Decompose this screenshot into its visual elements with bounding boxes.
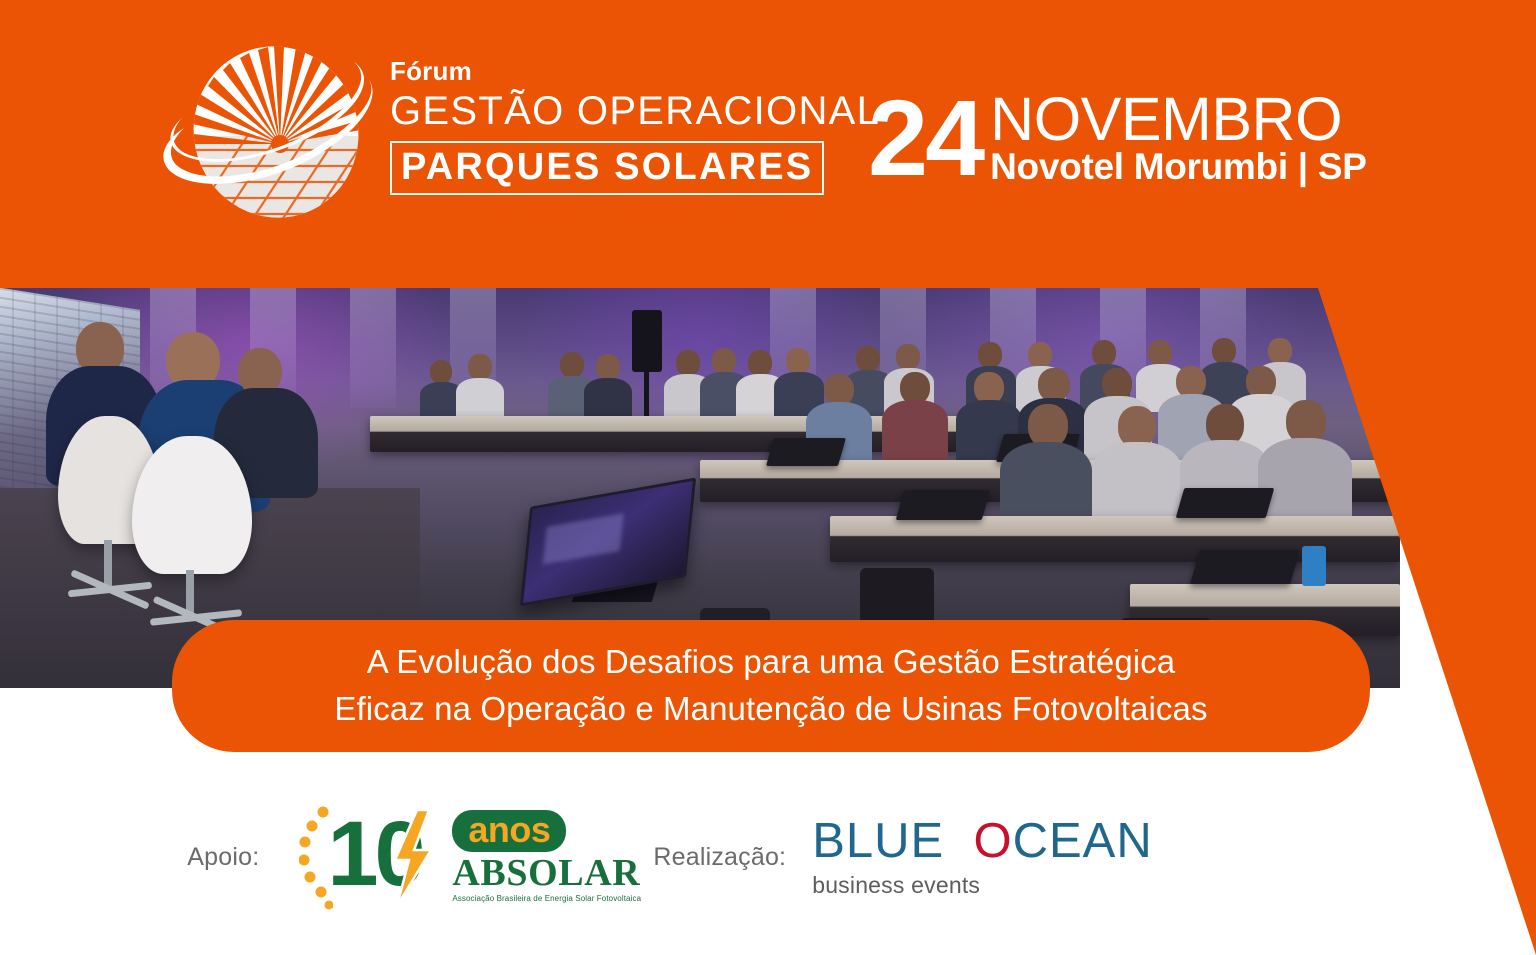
event-date-block: 24 NOVEMBRO Novotel Morumbi | SP: [868, 88, 1367, 187]
blue-ocean-o-glyph: O: [973, 814, 1012, 868]
absolar-tagline: Associação Brasileira de Energia Solar F…: [452, 895, 602, 904]
header-band: Fórum GESTÃO OPERACIONAL PARQUES SOLARES…: [0, 0, 1536, 290]
blue-ocean-business-events-logo[interactable]: BLUE OCEAN business events: [812, 817, 1153, 899]
blue-ocean-word-cean: CEAN: [1013, 814, 1153, 868]
event-theme-line1: A Evolução dos Desafios para uma Gestão …: [367, 643, 1176, 680]
absolar-name: ABSOLAR: [452, 854, 602, 892]
blue-ocean-word-blue: BLUE: [812, 814, 944, 868]
absolar-anos-badge: anos: [452, 810, 566, 853]
event-banner: Fórum GESTÃO OPERACIONAL PARQUES SOLARES…: [0, 0, 1536, 955]
event-logo-wordmark: Fórum GESTÃO OPERACIONAL PARQUES SOLARES: [390, 58, 810, 195]
absolar-10-anos-logo[interactable]: 10 anos ABSOLAR Associação Brasileira de…: [295, 802, 595, 914]
organizer-label: Realização:: [653, 843, 786, 872]
event-theme-banner: A Evolução dos Desafios para uma Gestão …: [172, 620, 1370, 752]
solar-globe-icon: [158, 32, 384, 228]
forum-label: Fórum: [390, 58, 810, 84]
sponsors-row: Apoio:: [0, 795, 1340, 920]
event-theme-text: A Evolução dos Desafios para uma Gestão …: [294, 639, 1247, 733]
support-sponsor-group: Apoio:: [187, 802, 595, 914]
blue-ocean-subtitle: business events: [812, 872, 1153, 899]
lightning-bolt-icon: [381, 808, 441, 908]
event-theme-line2: Eficaz na Operação e Manutenção de Usina…: [334, 690, 1207, 727]
event-title-line1: GESTÃO OPERACIONAL: [390, 91, 810, 131]
event-date-day: 24: [868, 88, 982, 187]
organizer-sponsor-group: Realização: BLUE OCEAN business events: [653, 817, 1152, 899]
event-venue: Novotel Morumbi | SP: [990, 148, 1366, 187]
blue-ocean-wordmark: BLUE OCEAN: [812, 817, 1153, 866]
event-date-month: NOVEMBRO: [990, 91, 1366, 147]
event-title-box: PARQUES SOLARES: [390, 141, 824, 195]
support-label: Apoio:: [187, 843, 259, 872]
event-title-line2: PARQUES SOLARES: [401, 148, 813, 186]
